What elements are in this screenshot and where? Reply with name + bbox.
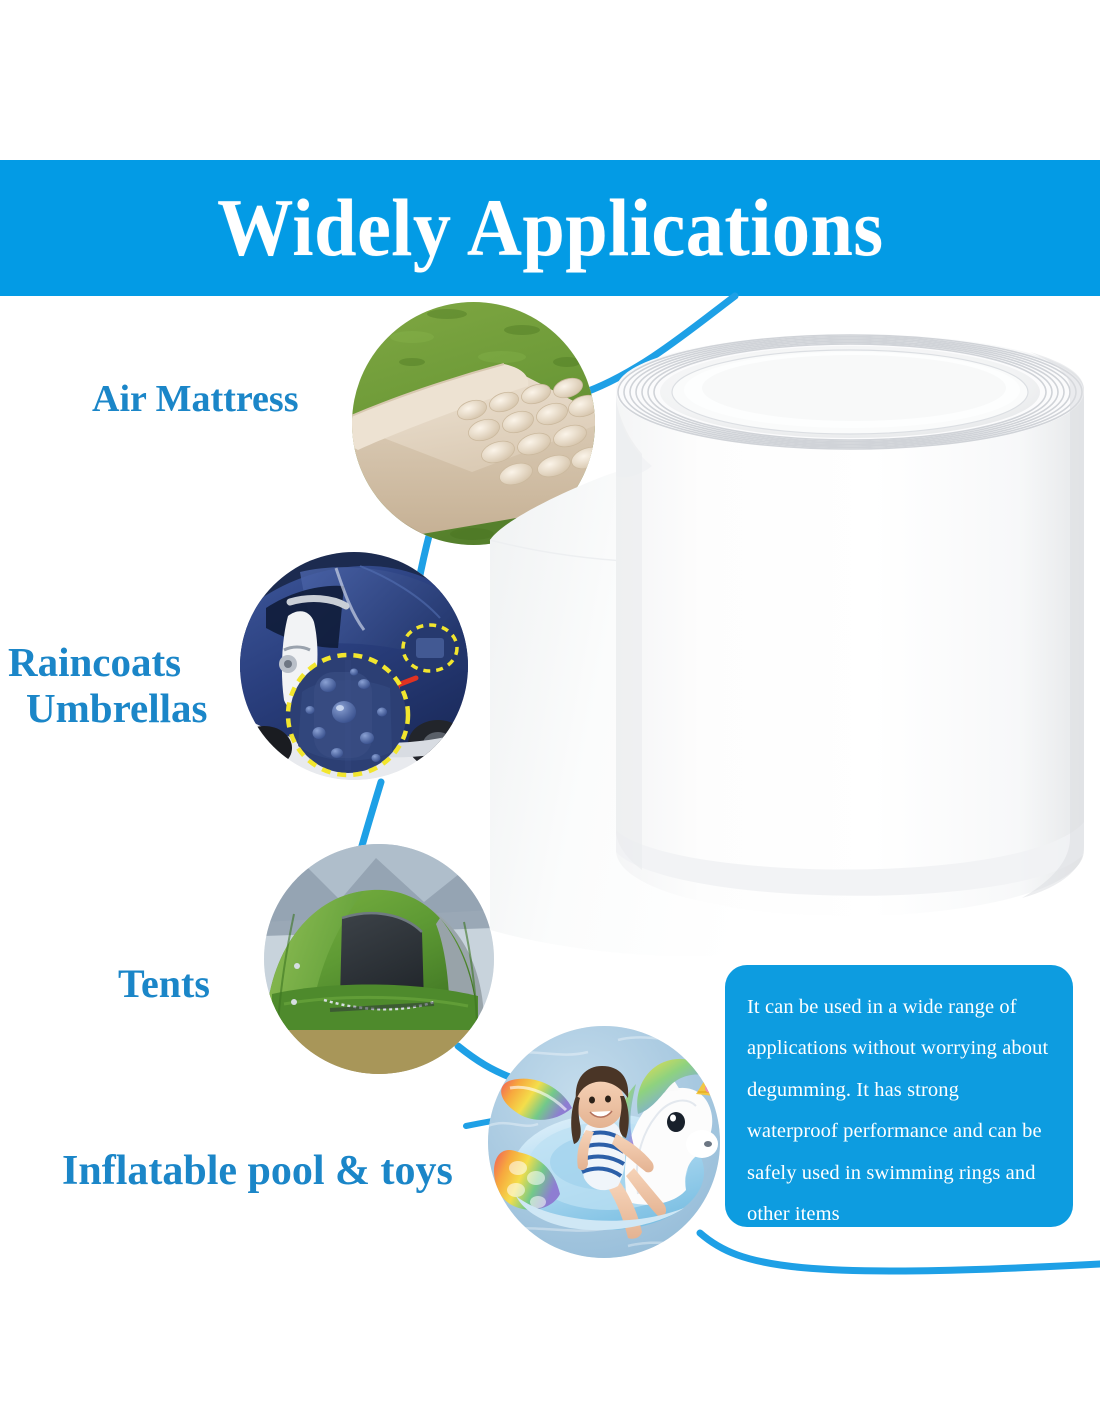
pool-toy-photo bbox=[488, 1026, 720, 1258]
label-raincoats-umbrellas: Raincoats Umbrellas bbox=[8, 640, 207, 732]
raincoat-photo bbox=[240, 552, 468, 780]
description-callout: It can be used in a wide range of applic… bbox=[725, 965, 1073, 1227]
label-tents: Tents bbox=[118, 962, 210, 1007]
label-inflatable-pool-toys: Inflatable pool & toys bbox=[62, 1148, 453, 1195]
label-umbrellas: Umbrellas bbox=[8, 686, 207, 732]
tape-roll bbox=[470, 330, 1090, 970]
tent-photo bbox=[264, 844, 494, 1074]
label-raincoats: Raincoats bbox=[8, 640, 207, 686]
description-text: It can be used in a wide range of applic… bbox=[747, 987, 1053, 1235]
infographic-canvas: Widely Applications bbox=[0, 0, 1100, 1422]
label-air-mattress: Air Mattress bbox=[92, 378, 298, 421]
